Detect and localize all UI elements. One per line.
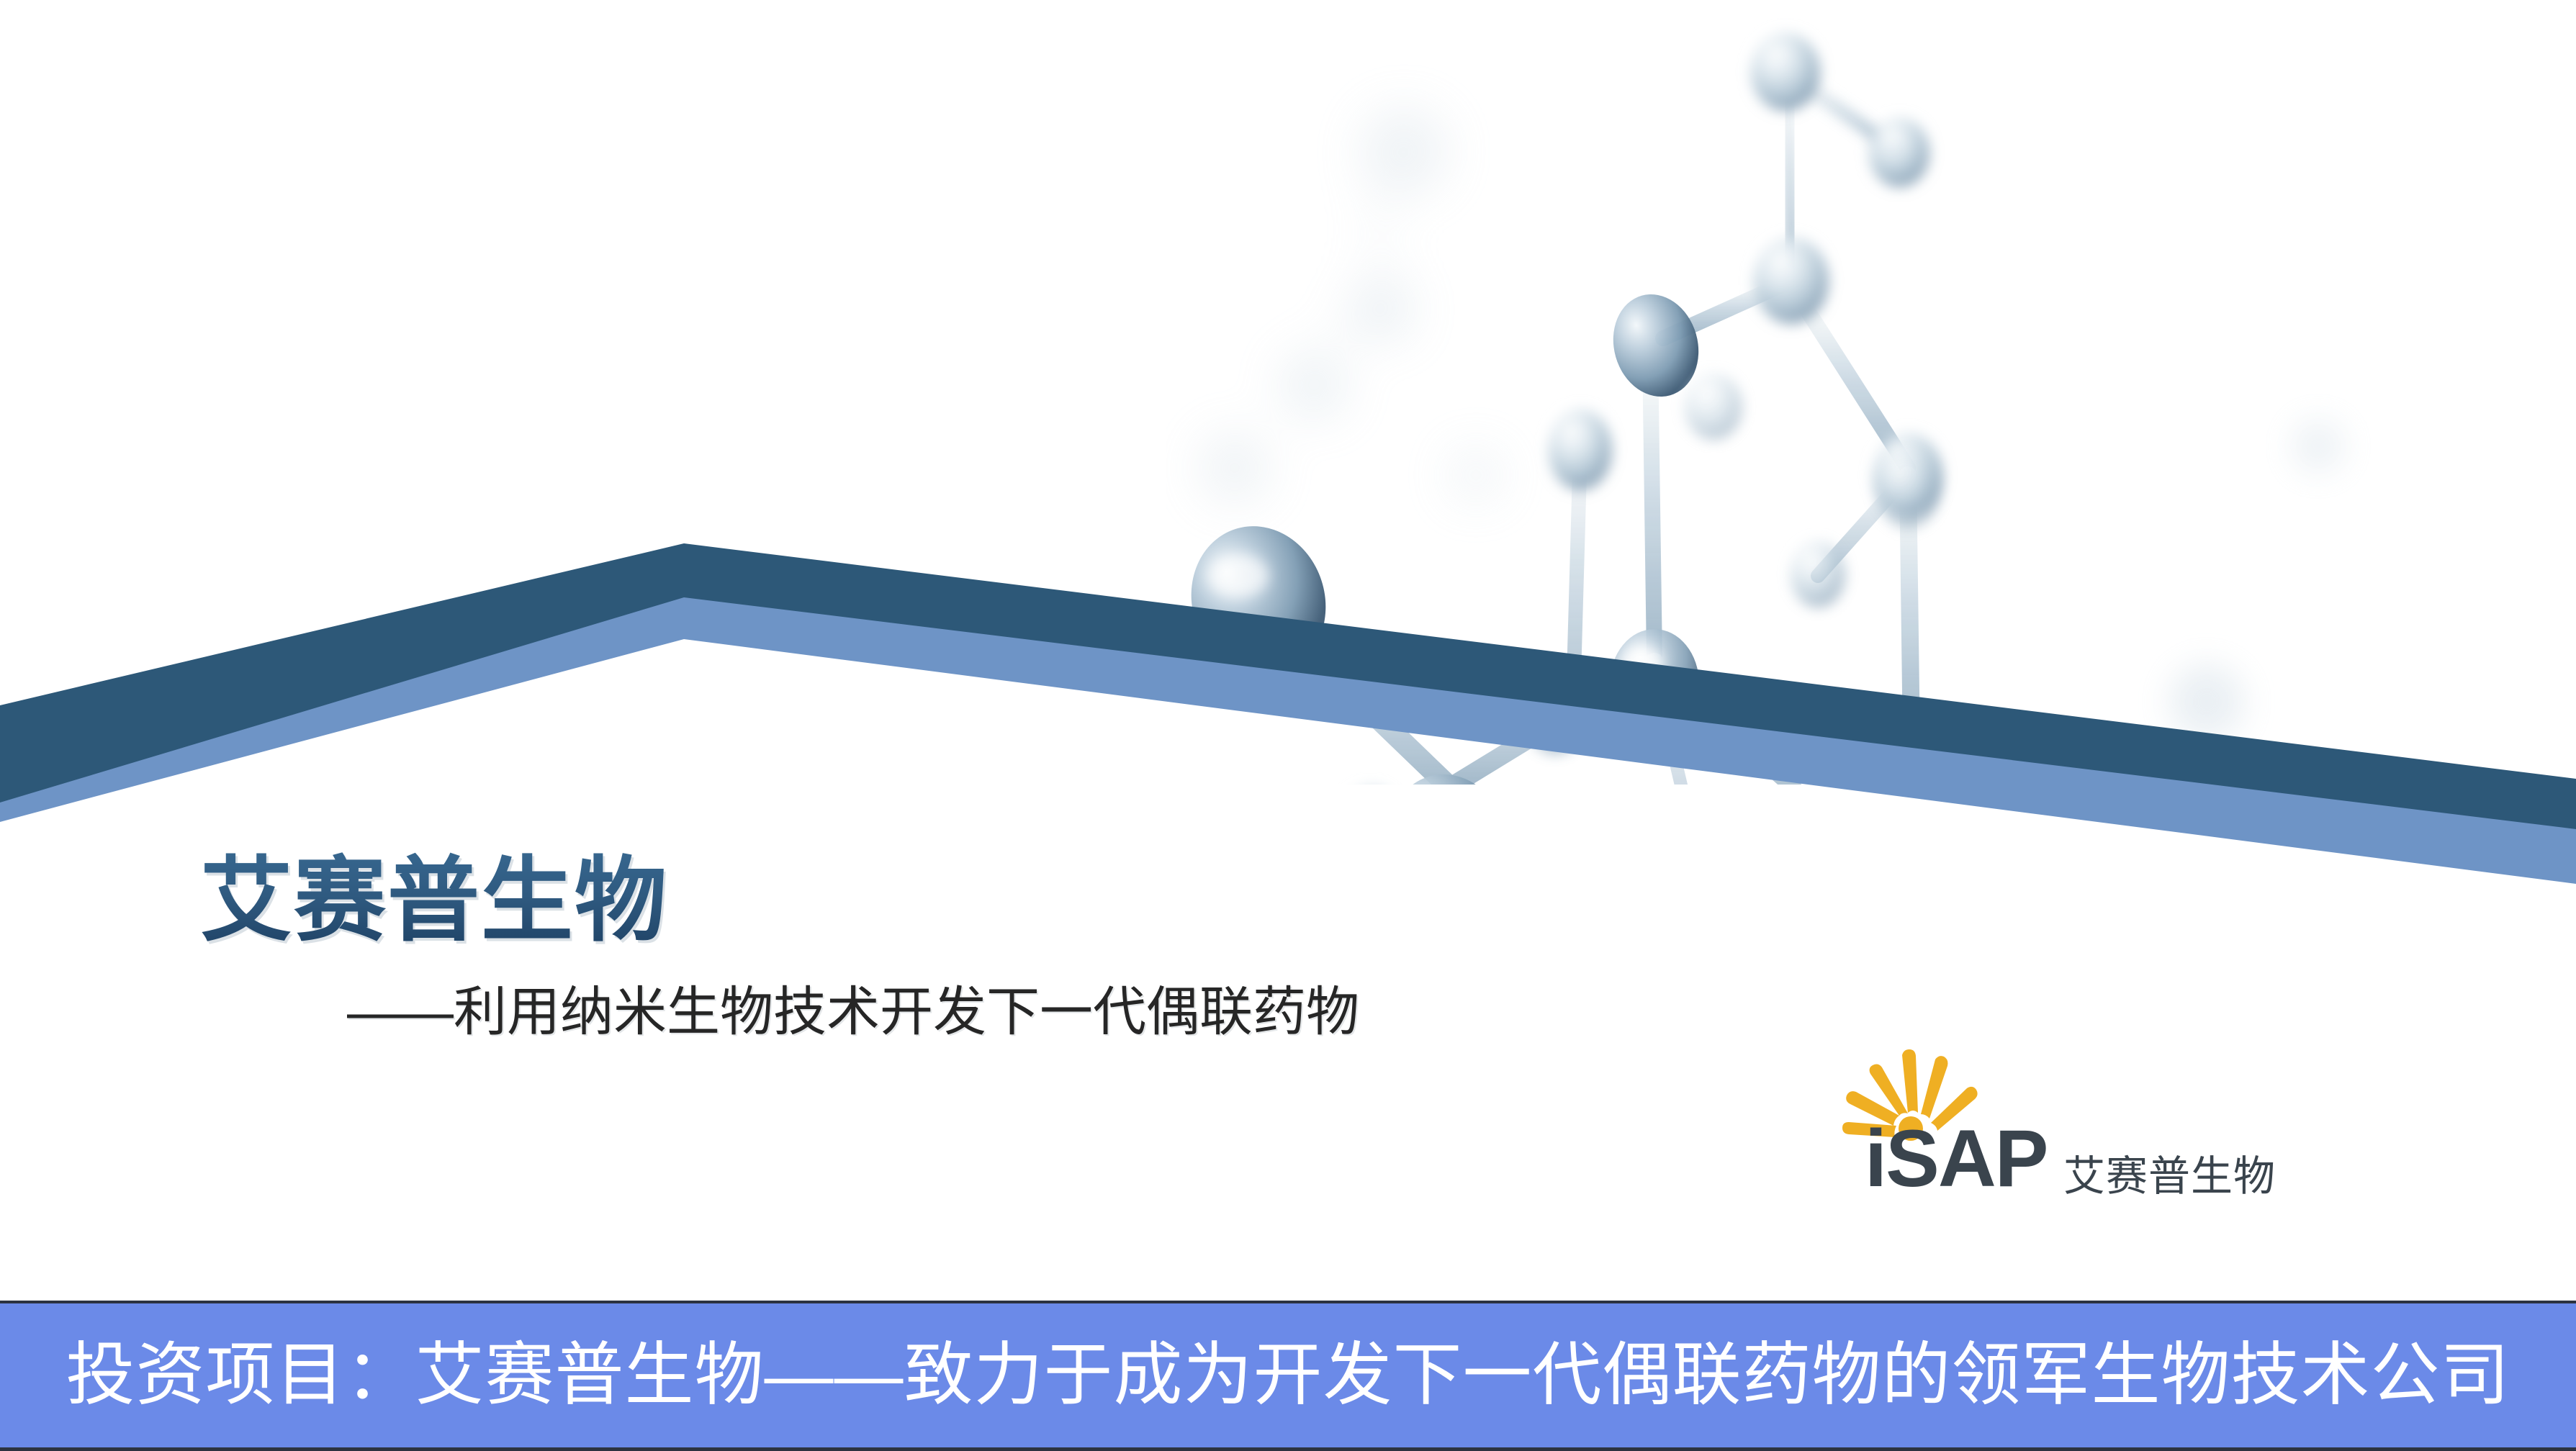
title-block: 艾赛普生物 ——利用纳米生物技术开发下一代偶联药物: [0, 849, 1656, 1041]
logo-wordmark: iSAP: [1865, 1118, 2047, 1199]
chevron-light-band: [0, 583, 2576, 884]
chevron-decoration: [0, 504, 2576, 907]
presentation-slide: 艾赛普生物 ——利用纳米生物技术开发下一代偶联药物 iSAP 艾赛普生物: [0, 0, 2576, 1451]
page-title: 艾赛普生物: [0, 849, 1656, 952]
logo-cn-name: 艾赛普生物: [2063, 1156, 2276, 1198]
molecule-illustration: [1166, 0, 2576, 785]
bottom-banner: 投资项目：艾赛普生物——致力于成为开发下一代偶联药物的领军生物技术公司: [0, 1301, 2576, 1451]
company-logo: iSAP 艾赛普生物: [1834, 1034, 2238, 1235]
page-subtitle: ——利用纳米生物技术开发下一代偶联药物: [0, 952, 1656, 1041]
chevron-dark-band: [0, 543, 2576, 829]
banner-text: 投资项目：艾赛普生物——致力于成为开发下一代偶联药物的领军生物技术公司: [66, 1341, 2510, 1410]
